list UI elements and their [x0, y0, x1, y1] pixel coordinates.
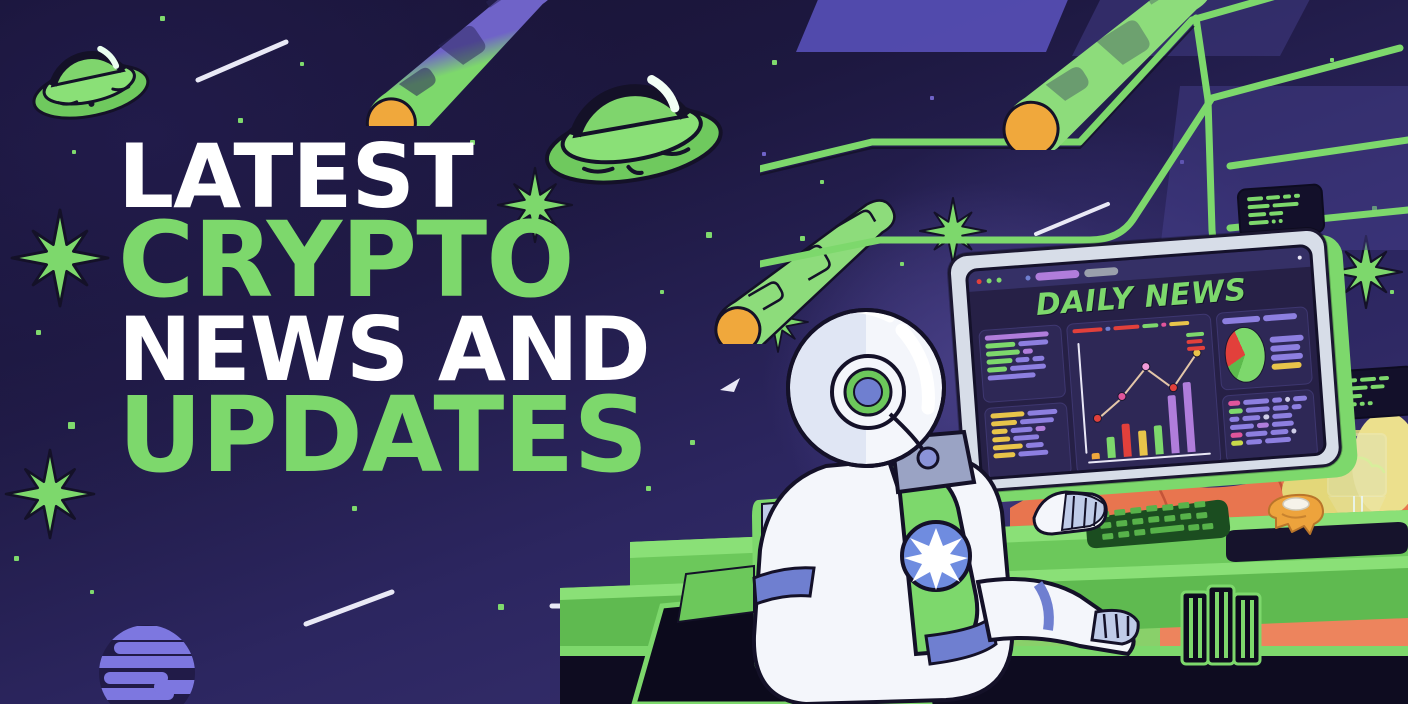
- text-bar: [1270, 343, 1300, 351]
- transactions-table[interactable]: [1222, 389, 1319, 464]
- sparkle-star-left-lower: [6, 450, 94, 538]
- telemetry-bar: [1248, 212, 1266, 217]
- telemetry-line: [1248, 201, 1314, 210]
- text-bar: [1230, 432, 1242, 438]
- planet-bottom-left: [92, 618, 202, 704]
- text-bar: [1272, 397, 1282, 403]
- close-dot[interactable]: [976, 278, 981, 283]
- browser-tab-inactive[interactable]: [1084, 267, 1118, 277]
- telemetry-bar: [1370, 384, 1384, 389]
- browser-menu-dot[interactable]: [1298, 255, 1302, 259]
- ufo-top-left: [18, 22, 158, 134]
- text-bar: [1271, 352, 1303, 360]
- text-bar: [1291, 428, 1296, 433]
- telemetry-line: [1249, 217, 1315, 226]
- sparkle-star-left-upper: [12, 210, 108, 306]
- tab-favicon-dot: [1025, 275, 1030, 280]
- headline-line-4: UPDATES: [118, 392, 650, 478]
- shooting-star-upper: [190, 38, 300, 88]
- text-bar: [1246, 406, 1270, 413]
- telemetry-bar: [1272, 219, 1276, 223]
- astronaut-hand-left: [1032, 484, 1112, 538]
- telemetry-bar: [1249, 220, 1269, 225]
- text-bar: [1257, 422, 1269, 428]
- text-bar: [1242, 415, 1260, 421]
- text-bar: [1187, 346, 1205, 351]
- text-bar: [1142, 323, 1158, 328]
- chart-legend-side: [1186, 332, 1205, 351]
- maximize-dot[interactable]: [996, 277, 1001, 282]
- text-bar: [1246, 439, 1262, 445]
- text-bar: [1222, 316, 1260, 325]
- text-bar: [1229, 408, 1243, 414]
- text-bar: [1231, 440, 1243, 446]
- text-bar: [1230, 423, 1254, 430]
- telemetry-line: [1248, 209, 1314, 218]
- text-bar: [1291, 404, 1301, 410]
- text-bar: [1228, 400, 1240, 406]
- minimize-dot[interactable]: [986, 278, 991, 283]
- volume-bar: [1154, 425, 1164, 455]
- telemetry-bar: [1248, 204, 1270, 210]
- telemetry-bar: [1360, 377, 1376, 382]
- portfolio-pie-chart: [1223, 325, 1268, 384]
- telemetry-bar: [1266, 195, 1280, 200]
- headline-line-2: CRYPTO: [118, 217, 650, 303]
- volume-bar: [1183, 382, 1196, 453]
- page-headline: LATEST CRYPTO NEWS AND UPDATES: [118, 140, 650, 479]
- telemetry-bar: [1247, 196, 1263, 201]
- price-point: [1168, 382, 1178, 392]
- text-bar: [1269, 334, 1303, 342]
- telemetry-line: [1247, 193, 1313, 202]
- telemetry-bar: [1360, 402, 1365, 406]
- telemetry-bar: [1283, 194, 1291, 199]
- text-bar: [1272, 420, 1294, 427]
- storage-cylinders: [1180, 582, 1270, 668]
- text-bar: [1265, 437, 1291, 444]
- volume-bar: [1168, 395, 1180, 454]
- telemetry-bar: [1269, 211, 1283, 216]
- coffee-cup: [1262, 490, 1330, 542]
- text-bar: [1263, 414, 1269, 419]
- text-bar: [1243, 398, 1269, 405]
- text-bar: [1272, 413, 1292, 419]
- text-bar: [1293, 395, 1307, 401]
- text-bar: [1169, 321, 1189, 326]
- telemetry-bar: [1272, 202, 1298, 208]
- text-bar: [1186, 332, 1204, 337]
- dashboard-right-column: [1216, 306, 1319, 463]
- telemetry-rows-upper: [1247, 193, 1315, 226]
- text-bar: [1263, 313, 1297, 321]
- text-bar: [1186, 339, 1202, 344]
- text-bar: [1270, 429, 1288, 435]
- telemetry-bar: [1294, 194, 1300, 198]
- text-bar: [1273, 405, 1289, 411]
- pie-summary-panel[interactable]: [1216, 306, 1313, 391]
- telemetry-bar: [1279, 219, 1283, 223]
- text-bar: [1245, 430, 1267, 437]
- text-bar: [1271, 361, 1301, 369]
- banner-illustration: DAILY NEWS: [0, 0, 1408, 704]
- text-bar: [1229, 416, 1239, 422]
- comet-top-right: [958, 0, 1258, 150]
- text-bar: [1161, 323, 1166, 327]
- telemetry-bar: [1379, 376, 1389, 381]
- telemetry-bar: [1368, 401, 1373, 405]
- text-bar: [1285, 397, 1290, 402]
- browser-tab-active[interactable]: [1035, 270, 1079, 281]
- shooting-star-lower: [300, 586, 410, 632]
